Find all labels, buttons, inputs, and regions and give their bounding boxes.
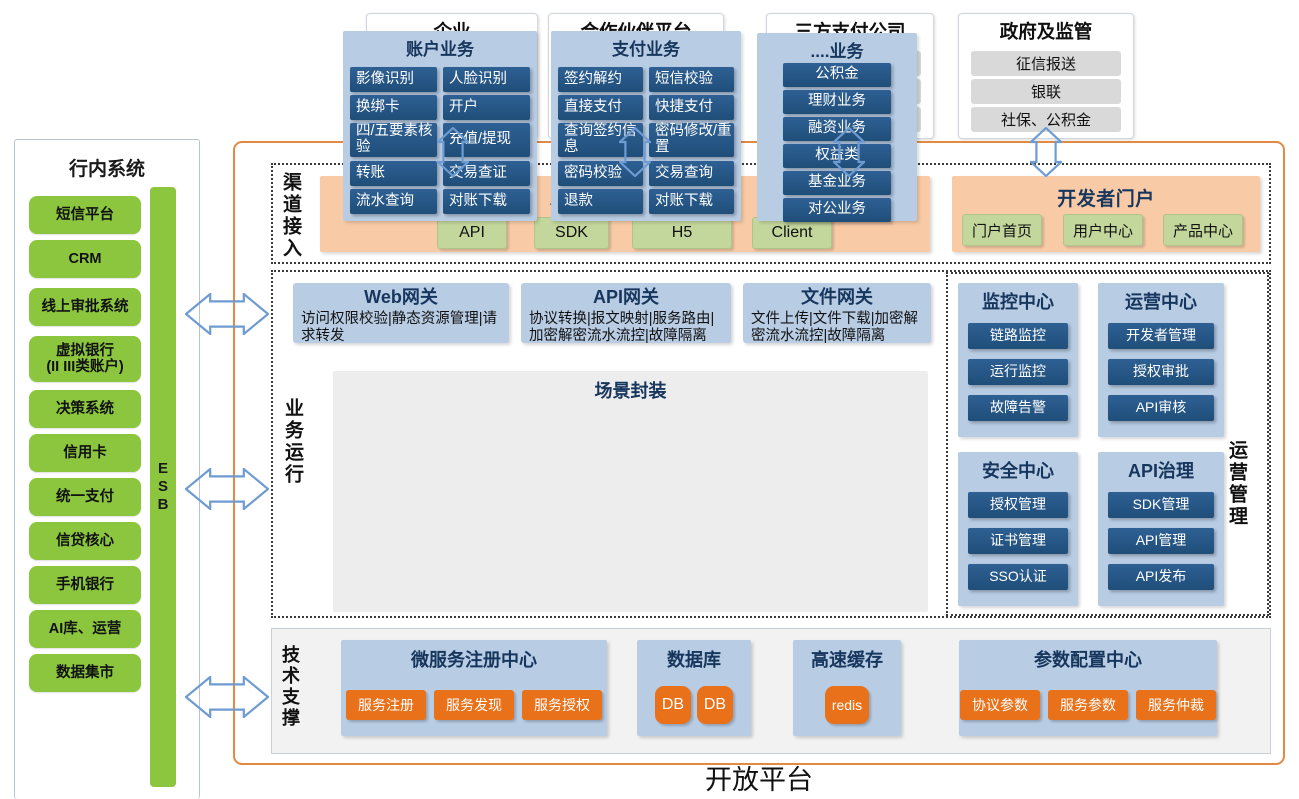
tech-card-title: 数据库 [637,640,751,672]
access-chip[interactable]: SDK [534,217,609,249]
redis-chip[interactable]: redis [825,686,869,724]
bank-system-item[interactable]: 信贷核心 [29,522,141,560]
scene-item[interactable]: 流水查询 [350,189,437,214]
in-bank-systems-panel: 行内系统 ESB 短信平台CRM线上审批系统虚拟银行(II III类账户)决策系… [14,139,200,799]
esb-bus: ESB [150,187,176,787]
tech-chip[interactable]: 服务仲裁 [1136,690,1216,720]
portal-chip[interactable]: 门户首页 [962,214,1042,246]
scene-item[interactable]: 人脸识别 [443,67,530,92]
scene-column-title: ....业务 [757,33,917,65]
ops-card-title: API治理 [1098,452,1224,487]
in-bank-systems-title: 行内系统 [15,154,199,181]
partner-chip[interactable]: 征信报送 [971,51,1121,76]
ops-card-title: 监控中心 [958,283,1078,318]
access-chip[interactable]: H5 [632,217,732,249]
ops-card-title: 安全中心 [958,452,1078,487]
db-chip[interactable]: DB [697,686,733,724]
scene-item[interactable]: 密码修改/重置 [649,123,734,157]
scene-item[interactable]: 公积金 [783,63,891,87]
scene-item[interactable]: 签约解约 [558,67,643,92]
scene-column-title: 账户业务 [343,31,537,63]
vertical-double-arrow [833,127,865,177]
tech-card: 高速缓存redis [793,640,901,736]
ops-item[interactable]: API审核 [1108,395,1214,421]
diagram-canvas: 行内系统 ESB 短信平台CRM线上审批系统虚拟银行(II III类账户)决策系… [0,0,1299,799]
vertical-double-arrow [1030,127,1062,177]
gateway-card: Web网关访问权限校验|静态资源管理|请求转发 [293,283,509,343]
gateway-title: API网关 [527,287,725,309]
tech-support-label: 技术支撑 [281,645,299,729]
scene-item[interactable]: 对账下载 [443,189,530,214]
scene-item[interactable]: 四/五要素核验 [350,123,437,157]
bank-system-item[interactable]: 决策系统 [29,390,141,428]
ops-item[interactable]: 链路监控 [968,323,1068,349]
ops-card-title: 运营中心 [1098,283,1224,318]
channel-access-label: 渠道接入 [281,172,300,260]
bank-system-item[interactable]: 短信平台 [29,196,141,234]
ops-card: 安全中心授权管理证书管理SSO认证 [958,452,1078,606]
esb-label: ESB [155,460,172,514]
ops-item[interactable]: 开发者管理 [1108,323,1214,349]
ops-item[interactable]: 证书管理 [968,528,1068,554]
bank-system-item[interactable]: CRM [29,240,141,278]
ops-item[interactable]: API发布 [1108,564,1214,590]
operations-management-label: 运营管理 [1227,440,1246,528]
tech-chip[interactable]: 服务参数 [1048,690,1128,720]
scene-item[interactable]: 退款 [558,189,643,214]
scene-encapsulation-box: 场景封装 [333,371,928,612]
horizontal-double-arrow [185,293,269,335]
tech-card: 数据库DBDB [637,640,751,736]
ops-item[interactable]: API管理 [1108,528,1214,554]
db-chip[interactable]: DB [655,686,691,724]
gateway-card: API网关协议转换|报文映射|服务路由|加密解密流水流控|故障隔离 [521,283,731,343]
open-platform-title: 开放平台 [233,758,1285,797]
tech-chip[interactable]: 协议参数 [960,690,1040,720]
bank-system-item[interactable]: 手机银行 [29,566,141,604]
scene-column: 账户业务影像识别换绑卡四/五要素核验转账流水查询人脸识别开户充值/提现交易查证对… [343,31,537,221]
horizontal-double-arrow [185,676,269,718]
scene-item[interactable]: 交易查询 [649,161,734,186]
bank-system-item[interactable]: 线上审批系统 [29,288,141,326]
tech-card: 微服务注册中心服务注册服务发现服务授权 [341,640,607,736]
gateway-title: Web网关 [299,287,503,309]
portal-chip[interactable]: 用户中心 [1063,214,1143,246]
tech-card-title: 参数配置中心 [959,640,1217,672]
horizontal-double-arrow [185,468,269,510]
scene-column: 支付业务签约解约直接支付查询签约信息密码校验退款短信校验快捷支付密码修改/重置交… [551,31,741,221]
scene-item[interactable]: 理财业务 [783,90,891,114]
scene-item[interactable]: 快捷支付 [649,95,734,120]
scene-item[interactable]: 对账下载 [649,189,734,214]
tech-chip[interactable]: 服务发现 [434,690,514,720]
ops-item[interactable]: SSO认证 [968,564,1068,590]
partner-box: 政府及监管征信报送银联社保、公积金 [958,13,1134,139]
bank-system-item[interactable]: 统一支付 [29,478,141,516]
access-chip[interactable]: API [437,217,507,249]
tech-chip[interactable]: 服务授权 [522,690,602,720]
vertical-double-arrow [437,127,469,177]
ops-item[interactable]: SDK管理 [1108,492,1214,518]
ops-item[interactable]: 故障告警 [968,395,1068,421]
gateway-card: 文件网关文件上传|文件下载|加密解密流水流控|故障隔离 [743,283,931,343]
business-operation-label: 业务运行 [283,398,302,486]
partner-title: 政府及监管 [959,19,1133,48]
scene-column-title: 支付业务 [551,31,741,63]
vertical-double-arrow [619,127,651,177]
bank-system-item[interactable]: AI库、运营 [29,610,141,648]
ops-item[interactable]: 运行监控 [968,359,1068,385]
ops-card: API治理SDK管理API管理API发布 [1098,452,1224,606]
ops-card: 监控中心链路监控运行监控故障告警 [958,283,1078,437]
partner-chip[interactable]: 银联 [971,79,1121,104]
scene-item[interactable]: 转账 [350,161,437,186]
scene-encapsulation-title: 场景封装 [333,371,928,403]
gateway-desc: 协议转换|报文映射|服务路由|加密解密流水流控|故障隔离 [527,309,725,345]
portal-chip[interactable]: 产品中心 [1163,214,1243,246]
scene-item[interactable]: 换绑卡 [350,95,437,120]
gateway-desc: 访问权限校验|静态资源管理|请求转发 [299,309,503,345]
tech-chip[interactable]: 服务注册 [346,690,426,720]
ops-item[interactable]: 授权管理 [968,492,1068,518]
bank-system-item[interactable]: 数据集市 [29,654,141,692]
ops-card: 运营中心开发者管理授权审批API审核 [1098,283,1224,437]
scene-item[interactable]: 短信校验 [649,67,734,92]
tech-card: 参数配置中心协议参数服务参数服务仲裁 [959,640,1217,736]
bank-system-item[interactable]: 虚拟银行(II III类账户) [29,336,141,382]
tech-card-title: 高速缓存 [793,640,901,672]
scene-item[interactable]: 对公业务 [783,198,891,222]
ops-item[interactable]: 授权审批 [1108,359,1214,385]
gateway-desc: 文件上传|文件下载|加密解密流水流控|故障隔离 [749,309,925,345]
tech-card-title: 微服务注册中心 [341,640,607,672]
gateway-title: 文件网关 [749,287,925,309]
scene-item[interactable]: 开户 [443,95,530,120]
bank-system-item[interactable]: 信用卡 [29,434,141,472]
scene-item[interactable]: 直接支付 [558,95,643,120]
developer-portal-title: 开发者门户 [952,176,1260,211]
scene-item[interactable]: 影像识别 [350,67,437,92]
